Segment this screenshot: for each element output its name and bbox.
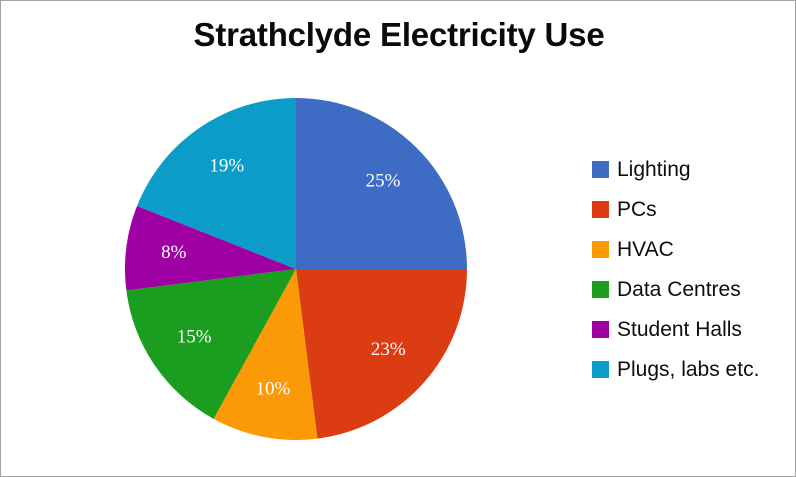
legend-item-label: HVAC [617,239,674,260]
legend-item[interactable]: Student Halls [592,309,792,349]
pie-slice-value-label: 23% [371,339,406,360]
pie-slice-group [125,98,467,440]
legend-swatch-icon [592,201,609,218]
legend-swatch-icon [592,281,609,298]
legend-item-label: Lighting [617,159,691,180]
legend-item[interactable]: PCs [592,189,792,229]
legend-item[interactable]: Lighting [592,149,792,189]
pie-slice-value-label: 10% [256,378,291,399]
legend-item[interactable]: Data Centres [592,269,792,309]
pie-slice-value-label: 15% [177,327,212,348]
chart-legend: LightingPCsHVACData CentresStudent Halls… [592,149,792,389]
pie-chart: 25%23%10%15%8%19% [125,98,467,440]
pie-chart-svg: 25%23%10%15%8%19% [125,98,467,440]
legend-swatch-icon [592,161,609,178]
page-title: Strathclyde Electricity Use [1,16,796,54]
legend-item[interactable]: Plugs, labs etc. [592,349,792,389]
pie-slice-value-label: 25% [366,170,401,191]
legend-swatch-icon [592,361,609,378]
legend-item-label: Plugs, labs etc. [617,359,759,380]
legend-item[interactable]: HVAC [592,229,792,269]
pie-slice-value-label: 19% [209,156,244,177]
legend-swatch-icon [592,321,609,338]
pie-slice-value-label: 8% [161,242,187,263]
legend-item-label: Data Centres [617,279,741,300]
legend-item-label: Student Halls [617,319,742,340]
legend-swatch-icon [592,241,609,258]
legend-item-label: PCs [617,199,657,220]
chart-canvas: Strathclyde Electricity Use 25%23%10%15%… [0,0,796,477]
